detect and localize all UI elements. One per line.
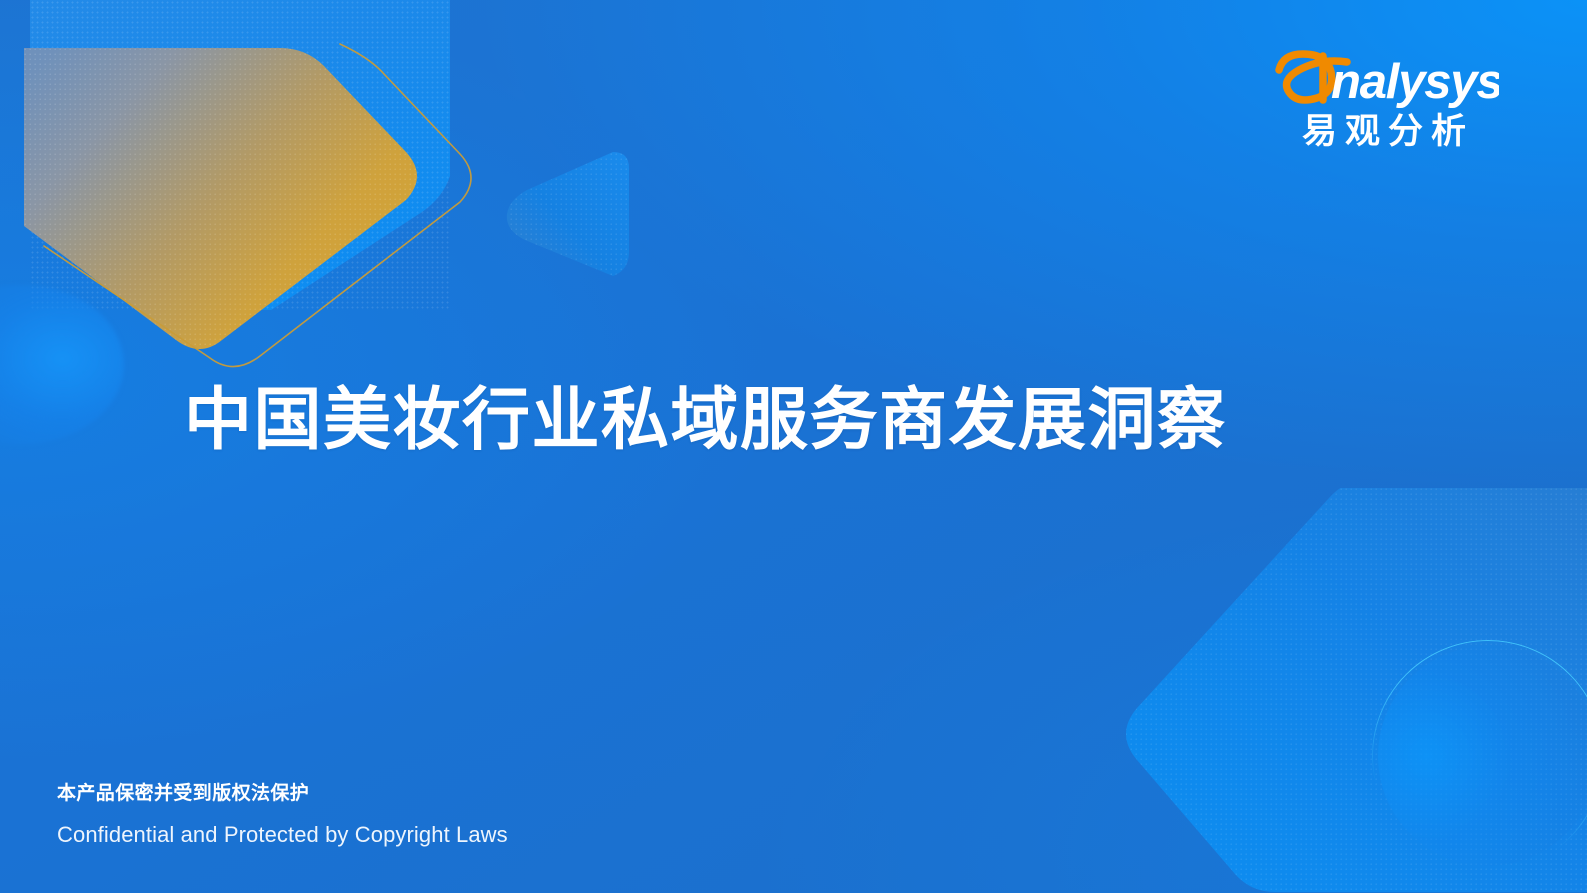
analysys-chinese-name: 易观分析 <box>1269 112 1499 151</box>
confidential-footer: 本产品保密并受到版权法保护 Confidential and Protected… <box>57 782 508 848</box>
brand-logo: nalysys 易观分析 <box>1269 48 1499 151</box>
decor-triangle-mid <box>495 148 635 283</box>
decor-circle-ring <box>1372 640 1587 872</box>
confidential-notice-cn: 本产品保密并受到版权法保护 <box>57 782 508 806</box>
svg-text:nalysys: nalysys <box>1331 55 1499 109</box>
cover-slide: nalysys 易观分析 中国美妆行业私域服务商发展洞察 本产品保密并受到版权法… <box>0 0 1587 893</box>
slide-title: 中国美妆行业私域服务商发展洞察 <box>184 384 1227 457</box>
confidential-notice-en: Confidential and Protected by Copyright … <box>57 822 508 848</box>
analysys-wordmark-icon: nalysys <box>1269 48 1499 110</box>
decor-circle-outline <box>1372 640 1587 872</box>
decor-arrow-gold <box>84 118 424 368</box>
